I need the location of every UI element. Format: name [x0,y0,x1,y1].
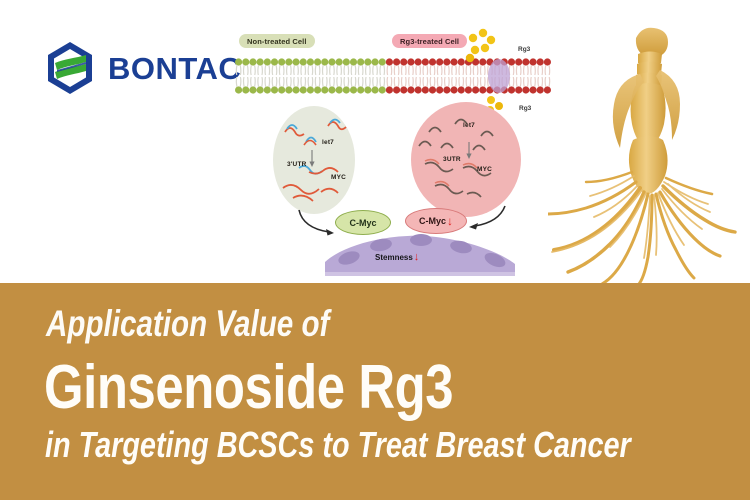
left-let7-label: let7 [322,139,334,146]
rg3-label-extracellular: Rg3 [518,46,530,53]
left-cmyc-output: C-Myc [335,210,391,235]
right-output-arrow [465,206,509,232]
rg3-molecules-extracellular [461,28,515,62]
cell-membrane-bilayer [235,58,551,94]
right-myc-label: MYC [477,166,492,173]
left-myc-label: MYC [331,174,346,181]
title-line-2: Ginsenoside Rg3 [44,352,453,423]
rg3-treated-cell-contents [411,102,521,217]
ginseng-root-image [548,12,748,287]
left-cmyc-label: C-Myc [349,218,376,228]
non-treated-cell-badge: Non-treated Cell [239,34,315,48]
stemness-annotation: Stemness ↓ [375,252,419,263]
right-cmyc-down-arrow-icon: ↓ [447,215,453,227]
right-cmyc-output: C-Myc ↓ [405,208,467,234]
rg3-treated-cell-badge: Rg3-treated Cell [392,34,467,48]
title-line-1: Application Value of [46,303,329,345]
stemness-down-arrow-icon: ↓ [414,252,420,263]
left-utr-label: 3'UTR [287,161,307,168]
mechanism-diagram: Non-treated Cell Rg3-treated Cell [225,14,555,282]
title-line-3: in Targeting BCSCs to Treat Breast Cance… [45,424,631,466]
bontac-hexagon-leaf-logo [42,40,98,96]
non-treated-cell-contents [273,106,355,214]
right-utr-label: 3UTR [443,156,461,163]
brand-name: BONTAC [108,53,241,84]
right-cmyc-label: C-Myc [419,216,446,226]
right-let7-label: let7 [463,122,475,129]
poster-canvas: BONTAC Non-treated Cell Rg3-treated Cell [0,0,750,500]
stemness-label: Stemness [375,253,413,262]
stemness-cell-layer [325,236,515,276]
brand-logo: BONTAC [42,40,241,96]
